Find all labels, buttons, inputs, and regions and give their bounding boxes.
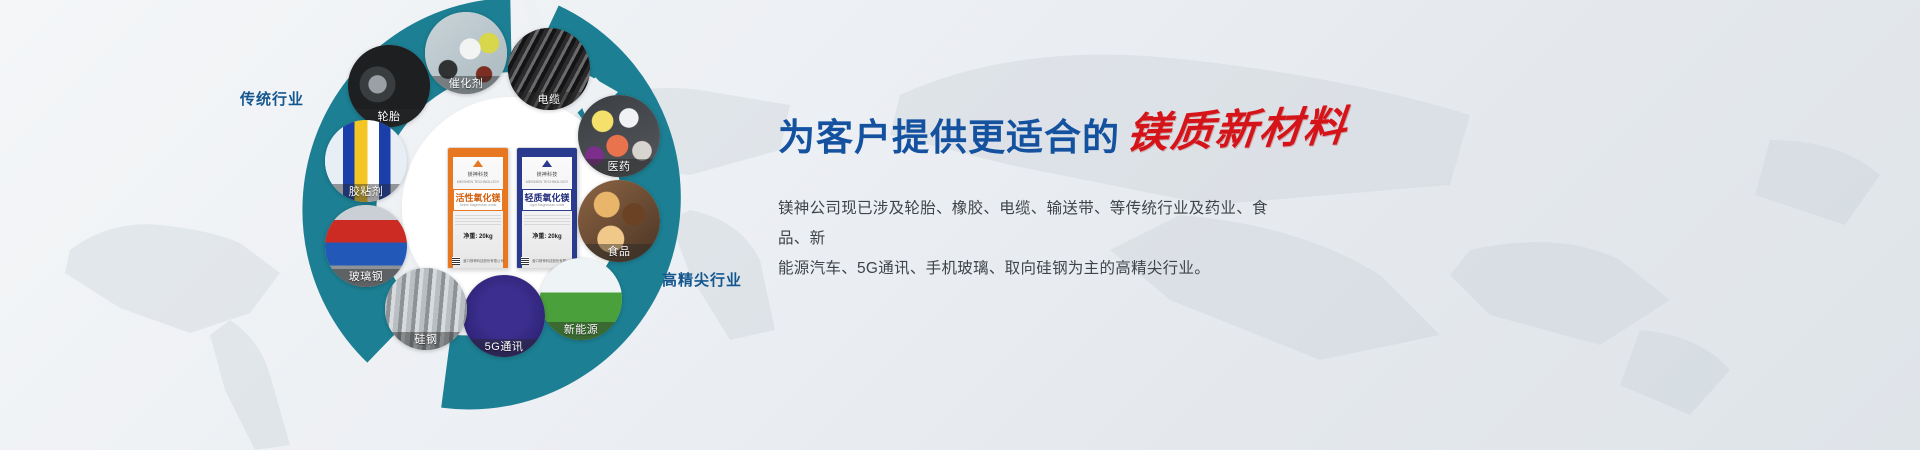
bag-side-stripe-left bbox=[448, 157, 453, 268]
bag-side-stripe-left bbox=[517, 157, 522, 268]
bag-footer: 营口镁神科技股份有限公司 bbox=[448, 257, 508, 265]
bubble-tire[interactable]: 轮胎 bbox=[348, 45, 430, 127]
bag-company: 营口镁神科技股份有限公司 bbox=[463, 258, 504, 263]
headline-blue-text: 为客户提供更适合的 bbox=[778, 107, 1120, 161]
product-bag-light-mgo: 镁神科技 MEISHEN TECHNOLOGY 轻质氧化镁 Light Magn… bbox=[516, 147, 578, 269]
headline-red-text: 镁质新材料 bbox=[1124, 92, 1351, 161]
brand-logo-icon bbox=[542, 160, 552, 167]
bag-name-box: 轻质氧化镁 Light Magnesium oxide bbox=[522, 189, 572, 211]
paragraph-line-2: 能源汽车、5G通讯、手机玻璃、取向硅钢为主的高精尖行业。 bbox=[778, 254, 1278, 284]
bag-name-en: Active Magnesium oxide bbox=[454, 203, 502, 208]
bag-top-band bbox=[448, 148, 508, 157]
paragraph-line-1: 镁神公司现已涉及轮胎、橡胶、电缆、输送带、等传统行业及药业、食品、新 bbox=[778, 194, 1278, 254]
marketing-copy: 为客户提供更适合的 镁质新材料 镁神公司现已涉及轮胎、橡胶、电缆、输送带、等传统… bbox=[778, 100, 1478, 284]
qr-code-icon bbox=[452, 257, 460, 265]
bubble-caption: 催化剂 bbox=[425, 76, 507, 94]
bag-side-stripe-right bbox=[572, 157, 577, 268]
qr-code-icon bbox=[521, 257, 529, 265]
bag-net-weight: 净重: 20kg bbox=[463, 231, 492, 240]
bag-name-en: Light Magnesium oxide bbox=[523, 203, 571, 208]
bubble-caption: 医药 bbox=[578, 159, 660, 177]
bag-brand: 镁神科技 bbox=[537, 171, 558, 178]
bubble-caption: 5G通讯 bbox=[463, 339, 545, 357]
bag-name-box: 活性氧化镁 Active Magnesium oxide bbox=[453, 189, 503, 211]
bag-spec-lines bbox=[455, 215, 501, 227]
industry-infographic: 镁神科技 MEISHEN TECHNOLOGY 活性氧化镁 Active Mag… bbox=[300, 0, 720, 450]
bubble-catalyst[interactable]: 催化剂 bbox=[425, 12, 507, 94]
bubble-caption: 胶粘剂 bbox=[325, 184, 407, 202]
bag-net-weight: 净重: 20kg bbox=[532, 231, 561, 240]
bubble-5g[interactable]: 5G通讯 bbox=[463, 275, 545, 357]
label-high-tech-industry: 高精尖行业 bbox=[662, 269, 742, 290]
bag-brand: 镁神科技 bbox=[468, 171, 489, 178]
label-traditional-industry: 传统行业 bbox=[240, 88, 304, 109]
bubble-adhesive[interactable]: 胶粘剂 bbox=[325, 120, 407, 202]
bag-brand-en: MEISHEN TECHNOLOGY bbox=[526, 180, 568, 184]
bubble-new-energy[interactable]: 新能源 bbox=[540, 258, 622, 340]
bubble-medicine[interactable]: 医药 bbox=[578, 95, 660, 177]
bag-spec-lines bbox=[524, 215, 570, 227]
description-paragraph: 镁神公司现已涉及轮胎、橡胶、电缆、输送带、等传统行业及药业、食品、新 能源汽车、… bbox=[778, 194, 1278, 284]
bag-top-band bbox=[517, 148, 577, 157]
product-bag-active-mgo: 镁神科技 MEISHEN TECHNOLOGY 活性氧化镁 Active Mag… bbox=[447, 147, 509, 269]
bag-name-cn: 轻质氧化镁 bbox=[523, 193, 571, 203]
bubble-caption: 硅钢 bbox=[385, 332, 467, 350]
bubble-food[interactable]: 食品 bbox=[578, 180, 660, 262]
bag-side-stripe-right bbox=[503, 157, 508, 268]
bubble-caption: 新能源 bbox=[540, 322, 622, 340]
headline: 为客户提供更适合的 镁质新材料 bbox=[778, 100, 1478, 161]
brand-logo-icon bbox=[473, 160, 483, 167]
bag-brand-en: MEISHEN TECHNOLOGY bbox=[457, 180, 499, 184]
bag-name-cn: 活性氧化镁 bbox=[454, 193, 502, 203]
bubble-silicon-steel[interactable]: 硅钢 bbox=[385, 268, 467, 350]
